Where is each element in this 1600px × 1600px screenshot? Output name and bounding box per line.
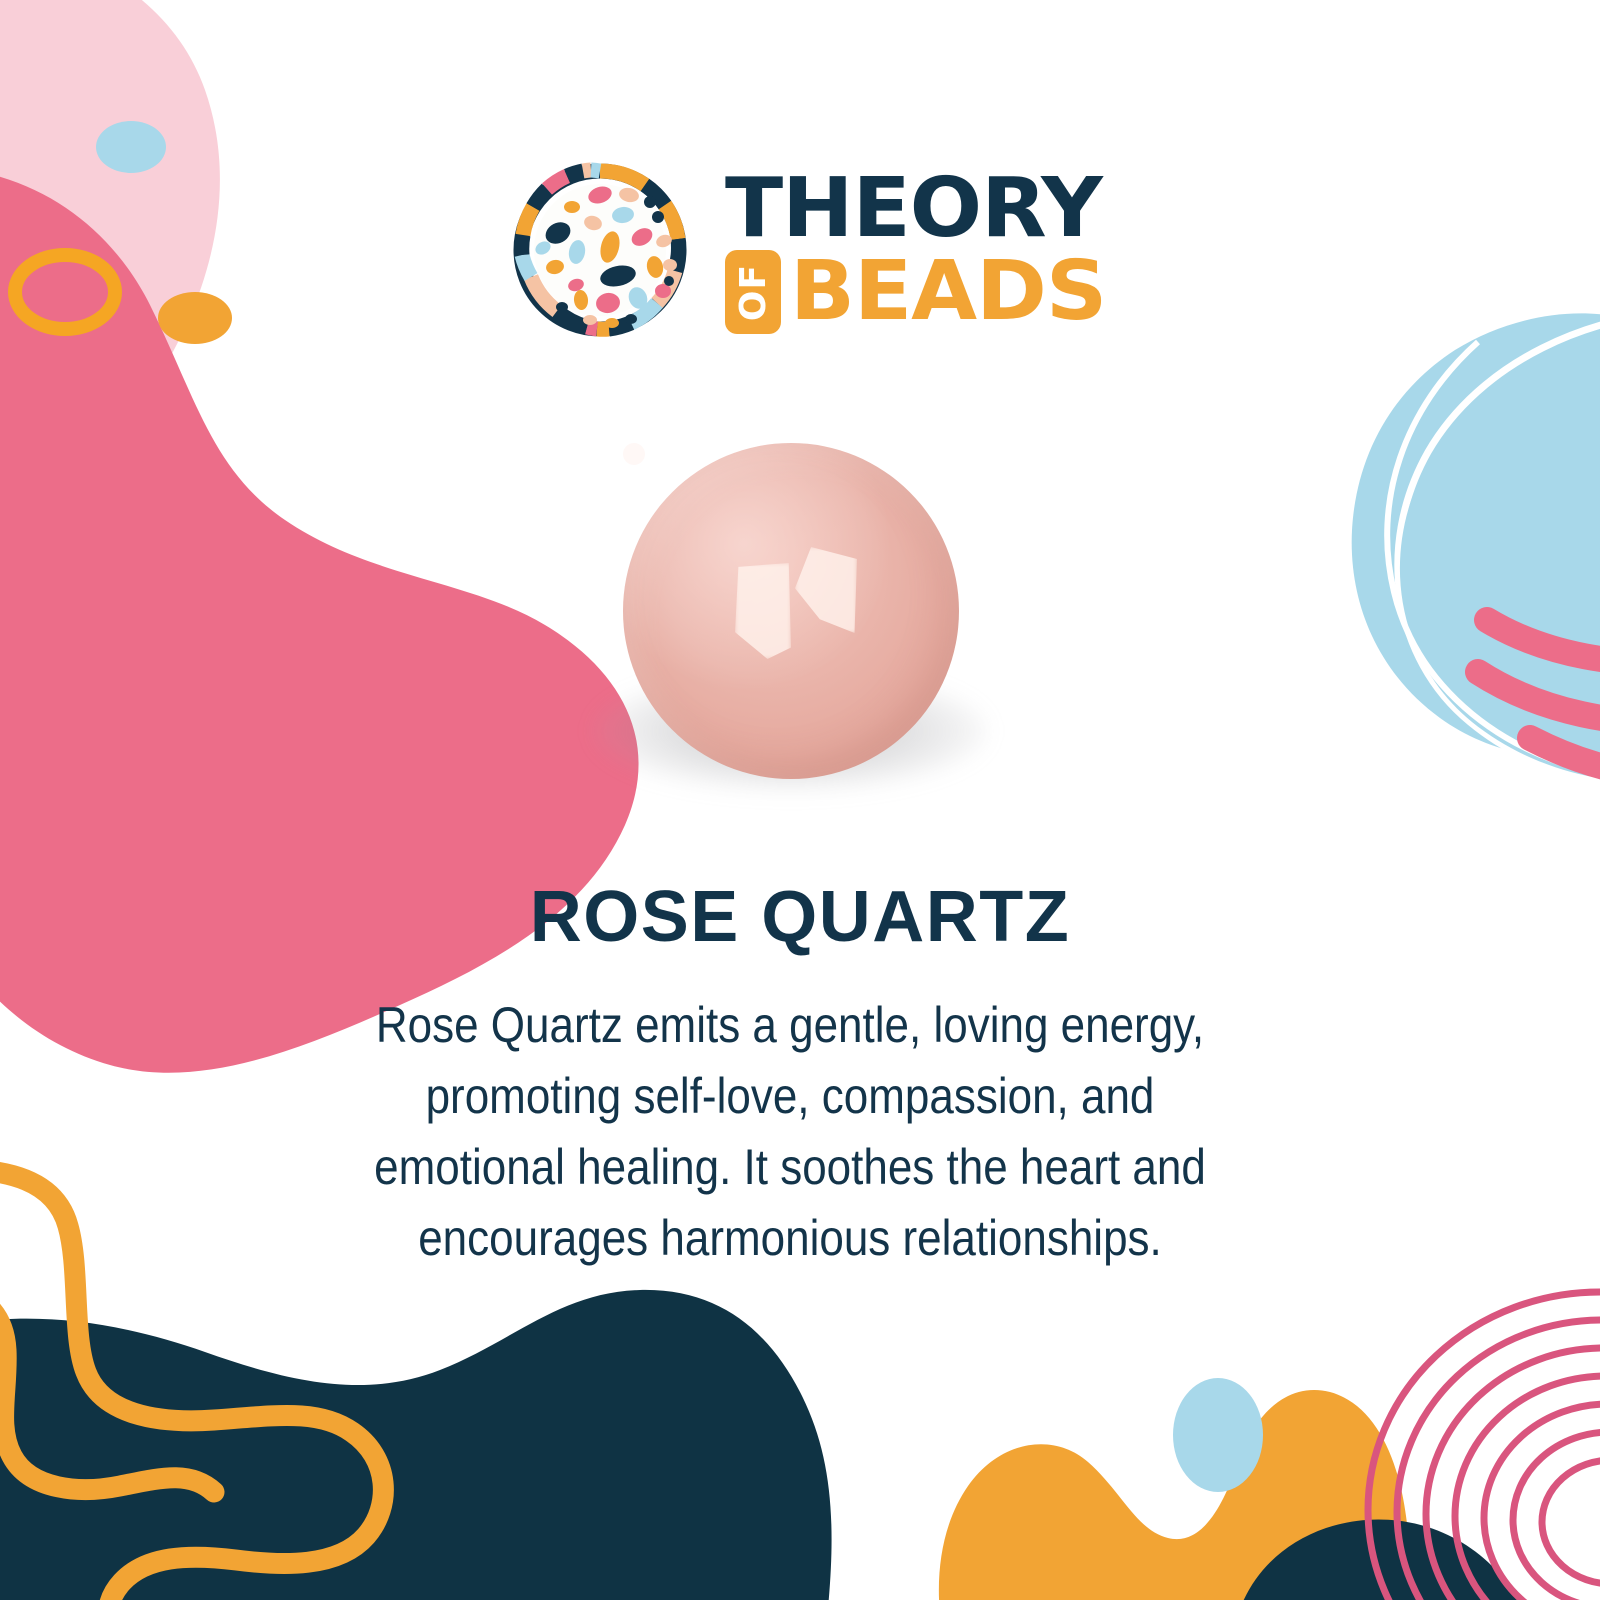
stone-highlight-left <box>735 563 791 659</box>
brand-name-beads: BEADS <box>790 253 1106 332</box>
orange-squiggle-bottom-left <box>0 1169 383 1600</box>
page-title: ROSE QUARTZ <box>0 876 1600 958</box>
brand-name-theory: THEORY <box>725 170 1102 249</box>
orange-squiggle-2-bottom-left <box>0 1288 214 1492</box>
pink-arc-1-top-right <box>1487 620 1600 663</box>
white-separator-arc-top-right <box>1398 310 1600 785</box>
rose-quartz-sphere-bead <box>623 443 959 779</box>
light-blue-blob-back-top-right <box>1352 313 1600 758</box>
beaded-circle-logo-icon <box>505 155 695 345</box>
poster-canvas: THEORY OF BEADS ROSE QUARTZ Rose Quartz … <box>0 0 1600 1600</box>
white-inner-arc-top-right <box>1387 342 1570 766</box>
decoration-bottom-right <box>939 1292 1600 1600</box>
brand-wordmark: THEORY OF BEADS <box>725 170 1094 335</box>
product-description: Rose Quartz emits a gentle, loving energ… <box>341 990 1239 1274</box>
pink-arc-3-top-right <box>1530 738 1600 778</box>
pink-arc-2-top-right <box>1478 672 1600 723</box>
brand-name-of-beads-row: OF BEADS <box>725 250 1094 334</box>
light-blue-circle-bottom-right <box>1173 1378 1263 1492</box>
stone-highlight-dot <box>623 443 645 465</box>
pink-spiral-bottom-right <box>1368 1292 1600 1600</box>
orange-blob-bottom-right <box>939 1390 1410 1600</box>
brand-name-of: OF <box>733 264 774 321</box>
brand-of-badge: OF <box>725 250 781 334</box>
stone-body <box>623 443 959 779</box>
white-separator-bottom-right <box>1410 1440 1438 1600</box>
stone-highlight-right <box>795 547 857 633</box>
navy-blob-bottom-left <box>0 1290 832 1600</box>
brand-logo: THEORY OF BEADS <box>0 150 1600 350</box>
navy-blob-bottom-right <box>1230 1519 1556 1600</box>
light-blue-blob-front-top-right <box>1400 318 1600 782</box>
decoration-top-right <box>1352 310 1600 785</box>
